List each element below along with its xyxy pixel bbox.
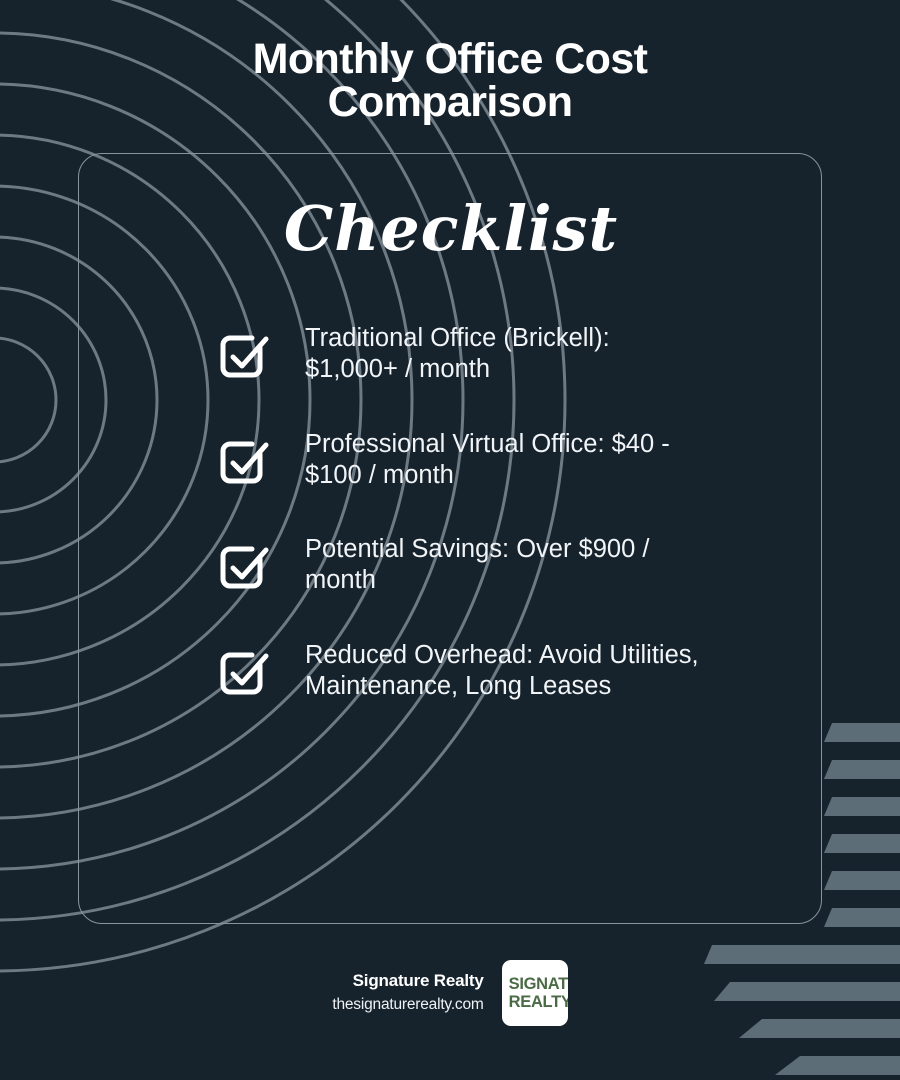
checklist-heading: Checklist bbox=[79, 198, 823, 260]
page-title: Monthly Office Cost Comparison bbox=[0, 38, 900, 124]
page-title-line-1: Monthly Office Cost bbox=[0, 38, 900, 81]
brand-logo-line-2: REALTY bbox=[509, 994, 568, 1012]
list-item-label: Traditional Office (Brickell): $1,000+ /… bbox=[305, 322, 709, 385]
footer: Signature Realty thesignaturerealty.com … bbox=[0, 948, 900, 1038]
brand-logo-line-1: SIGNATURE bbox=[509, 976, 568, 994]
checkbox-checked-icon[interactable] bbox=[216, 324, 274, 382]
brand-logo-text: SIGNATURE REALTY bbox=[509, 976, 568, 1012]
list-item[interactable]: Professional Virtual Office: $40 - $100 … bbox=[216, 428, 756, 491]
checklist-items: Traditional Office (Brickell): $1,000+ /… bbox=[216, 322, 756, 702]
brand-logo: SIGNATURE REALTY bbox=[502, 960, 568, 1026]
checkbox-checked-icon[interactable] bbox=[216, 430, 274, 488]
checkbox-checked-icon[interactable] bbox=[216, 641, 274, 699]
list-item-label: Potential Savings: Over $900 / month bbox=[305, 533, 709, 596]
brand-name: Signature Realty bbox=[332, 968, 483, 994]
list-item[interactable]: Reduced Overhead: Avoid Utilities, Maint… bbox=[216, 639, 756, 702]
list-item[interactable]: Traditional Office (Brickell): $1,000+ /… bbox=[216, 322, 756, 385]
list-item-label: Reduced Overhead: Avoid Utilities, Maint… bbox=[305, 639, 709, 702]
footer-brand-block: Signature Realty thesignaturerealty.com bbox=[332, 968, 483, 1018]
brand-website[interactable]: thesignaturerealty.com bbox=[332, 993, 483, 1018]
list-item-label: Professional Virtual Office: $40 - $100 … bbox=[305, 428, 709, 491]
checkbox-checked-icon[interactable] bbox=[216, 535, 274, 593]
list-item[interactable]: Potential Savings: Over $900 / month bbox=[216, 533, 756, 596]
poster-canvas: Monthly Office Cost Comparison Checklist… bbox=[0, 0, 900, 1080]
checklist-card: Checklist Traditional Office (Brickell):… bbox=[78, 153, 822, 924]
page-title-line-2: Comparison bbox=[0, 81, 900, 124]
